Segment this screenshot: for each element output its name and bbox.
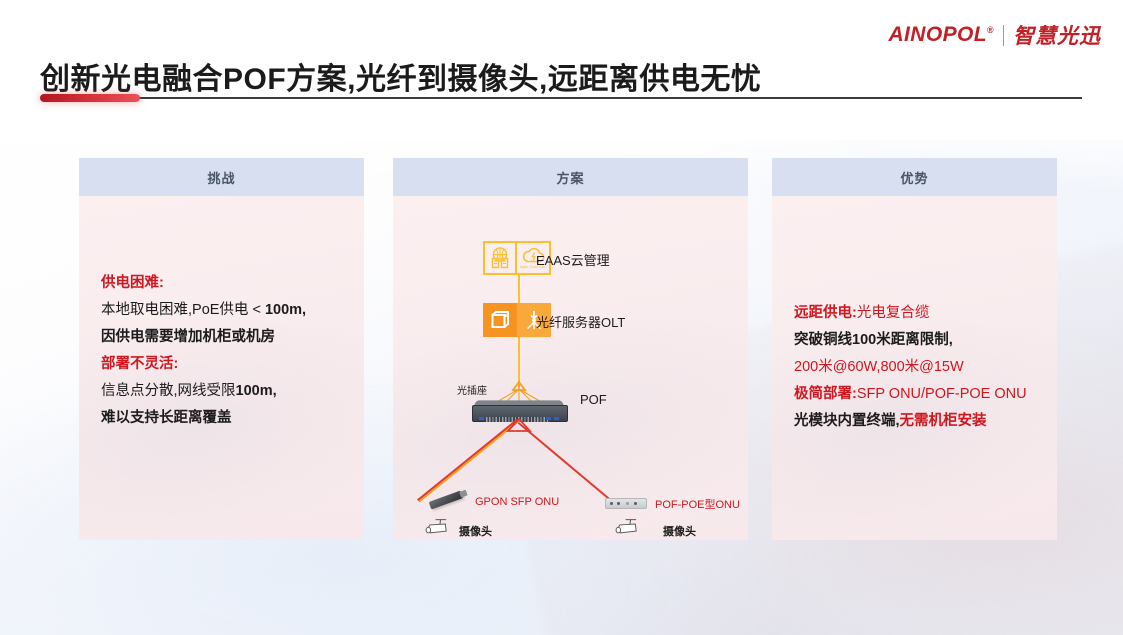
eaas-cloud-label: EAAS云管理 <box>536 250 610 269</box>
link-pof-to-pof-poe-onu <box>519 422 617 504</box>
camera-left-label: 摄像头 <box>459 523 492 539</box>
panel-challenges: 挑战 供电困难: 本地取电困难,PoE供电 < 100m, 因供电需要增加机柜或… <box>79 158 364 540</box>
logo-divider <box>1003 25 1004 46</box>
camera-left-icon <box>425 518 455 538</box>
advantage-item-1-title: 远距供电:光电复合缆 <box>794 300 1027 327</box>
camera-right-label: 摄像头 <box>663 523 696 539</box>
pof-downlink-arrow-icon <box>506 418 532 432</box>
panel-advantages: 优势 远距供电:光电复合缆 突破铜线100米距离限制, 200米@60W,800… <box>772 158 1057 540</box>
advantage-item-2-line-1-b: 无需机柜安装 <box>900 413 987 429</box>
advantage-item-2-title: 极简部署:SFP ONU/POF-POE ONU <box>794 381 1027 408</box>
pof-poe-onu-device <box>605 498 647 509</box>
title-underline-accent-bar <box>40 94 140 102</box>
advantage-item-2-line-1: 光模块内置终端,无需机柜安装 <box>794 408 1027 435</box>
logo-wordmark-text: AINOPOL <box>888 23 986 46</box>
panel-challenges-heading: 挑战 <box>79 158 364 196</box>
challenge-item-1-title: 供电困难: <box>101 270 306 297</box>
logo-chinese-name: 智慧光迅 <box>1013 20 1101 50</box>
advantages-text-block: 远距供电:光电复合缆 突破铜线100米距离限制, 200米@60W,800米@1… <box>794 300 1027 435</box>
link-pof-to-gpon-onu <box>420 422 519 503</box>
camera-right-icon <box>615 518 645 538</box>
panel-challenges-body: 供电困难: 本地取电困难,PoE供电 < 100m, 因供电需要增加机柜或机房 … <box>79 196 364 540</box>
server-icon-svg <box>489 309 511 331</box>
pof-poe-onu-label: POF-POE型ONU <box>655 496 740 512</box>
panel-solution: 方案 <box>393 158 748 540</box>
title-underline <box>40 96 1082 99</box>
building-globe-icon-svg <box>487 245 513 271</box>
brand-logo: AINOPOL® 智慧光迅 <box>888 20 1101 50</box>
panel-solution-body: Agile Controller EAAS云管理 <box>393 196 748 540</box>
panel-advantages-body: 远距供电:光电复合缆 突破铜线100米距离限制, 200米@60W,800米@1… <box>772 196 1057 540</box>
challenge-item-1-line-2: 因供电需要增加机柜或机房 <box>101 324 306 351</box>
pof-switch-led-right2 <box>546 417 551 420</box>
challenge-item-2-line-2: 难以支持长距离覆盖 <box>101 405 306 432</box>
challenge-item-2-line-1: 信息点分散,网线受限100m, <box>101 378 306 405</box>
advantage-item-2-title-label: 极简部署: <box>794 386 857 402</box>
pof-label: POF <box>580 392 607 407</box>
registered-trademark-icon: ® <box>987 25 994 35</box>
advantage-item-1-line-1: 突破铜线100米距离限制, <box>794 327 1027 354</box>
advantage-item-1-line-2: 200米@60W,800米@15W <box>794 354 1027 381</box>
page-title: 创新光电融合POF方案,光纤到摄像头,远距离供电无忧 <box>40 54 761 98</box>
challenge-item-2-title: 部署不灵活: <box>101 351 306 378</box>
logo-wordmark: AINOPOL® <box>888 23 994 47</box>
building-globe-icon <box>483 241 517 275</box>
title-underline-line <box>136 97 1082 99</box>
advantage-item-2-line-1-a: 光模块内置终端, <box>794 413 900 429</box>
challenge-item-2-line-1-a: 信息点分散,网线受限 <box>101 383 236 399</box>
panel-advantages-heading: 优势 <box>772 158 1057 196</box>
solution-topology-diagram: Agile Controller EAAS云管理 <box>393 196 748 540</box>
challenge-item-1-line-1-a: 本地取电困难,PoE供电 < <box>101 302 265 318</box>
advantage-item-1-title-label: 远距供电: <box>794 305 857 321</box>
advantage-item-1-title-value: 光电复合缆 <box>857 305 930 321</box>
advantage-item-2-title-value: SFP ONU/POF-POE ONU <box>857 386 1027 402</box>
pof-switch-led-right <box>554 417 559 420</box>
server-icon <box>483 303 517 337</box>
gpon-sfp-onu-device <box>429 490 464 509</box>
challenge-item-2-line-1-b: 100m, <box>236 383 277 399</box>
link-cloud-to-olt <box>518 275 520 303</box>
olt-label: 光纤服务器OLT <box>536 312 625 331</box>
pof-switch-led-left <box>479 417 484 420</box>
panel-solution-heading: 方案 <box>393 158 748 196</box>
optical-socket-label: 光插座 <box>457 382 487 397</box>
gpon-sfp-onu-label: GPON SFP ONU <box>475 496 559 508</box>
challenge-item-1-line-1-b: 100m, <box>265 302 306 318</box>
challenges-text-block: 供电困难: 本地取电困难,PoE供电 < 100m, 因供电需要增加机柜或机房 … <box>101 270 306 432</box>
challenge-item-1-line-1: 本地取电困难,PoE供电 < 100m, <box>101 297 306 324</box>
